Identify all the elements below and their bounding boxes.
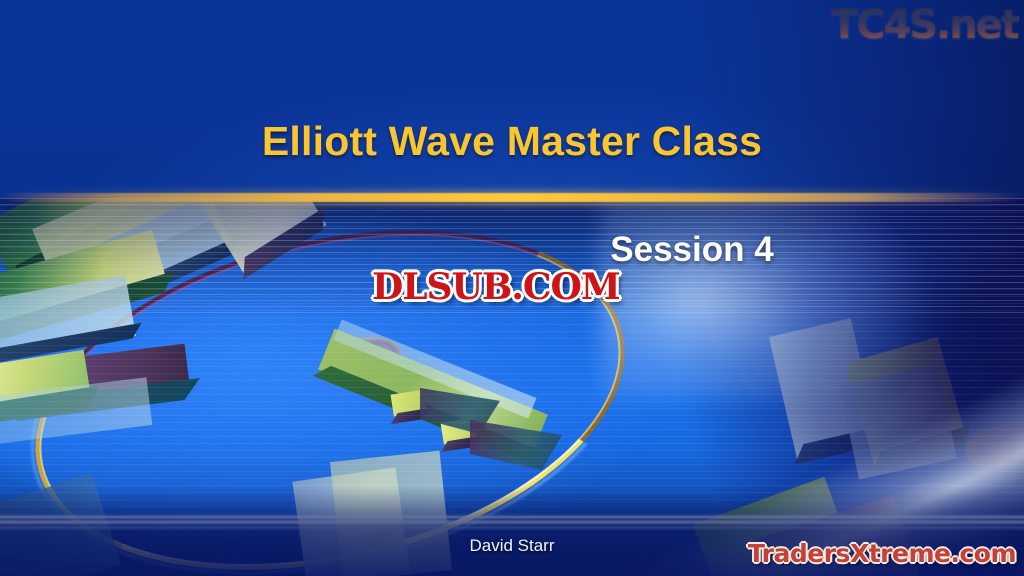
dlsub-watermark: DLSUB.COM <box>372 266 620 308</box>
light-beam-glow <box>600 198 930 398</box>
tc4s-logo: TC4S.net <box>831 2 1018 48</box>
page-title: Elliott Wave Master Class <box>0 118 1024 165</box>
tradersxtreme-logo: TradersXtreme.com <box>748 539 1016 568</box>
presentation-slide: Elliott Wave Master Class Session 4 Davi… <box>0 0 1024 576</box>
title-divider-line <box>0 193 1024 202</box>
session-subtitle: Session 4 <box>0 230 1024 270</box>
